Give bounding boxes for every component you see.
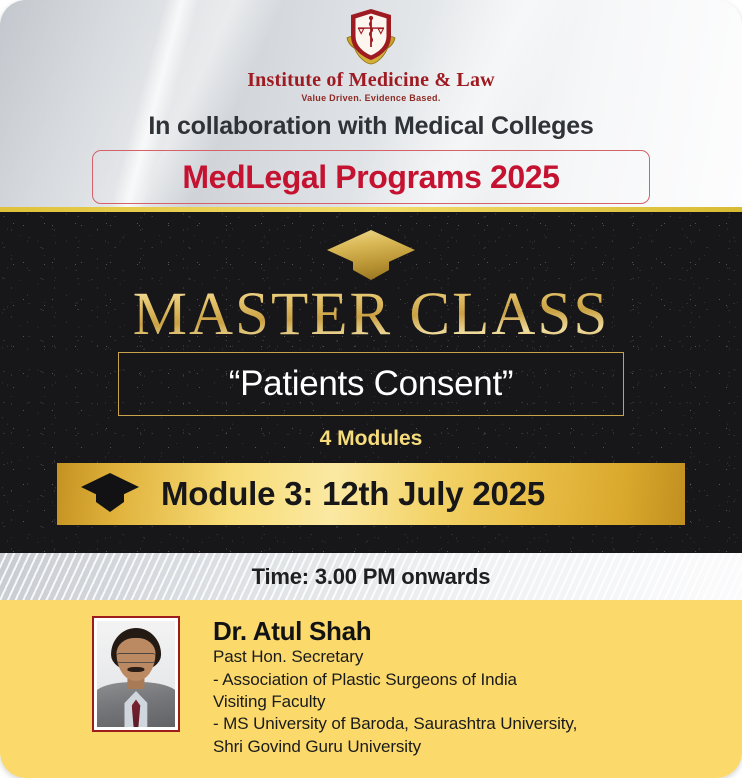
speaker-credential-line: Visiting Faculty [213, 691, 577, 713]
modules-count-label: 4 Modules [0, 427, 742, 451]
speaker-credential-line: - Association of Plastic Surgeons of Ind… [213, 669, 577, 691]
institute-logo-block: Institute of Medicine & Law Value Driven… [0, 0, 742, 103]
master-class-heading: MASTER CLASS [0, 284, 742, 346]
program-title-box: MedLegal Programs 2025 [92, 150, 650, 204]
speaker-credential-line: Shri Govind Guru University [213, 736, 577, 758]
speaker-credential-line: Past Hon. Secretary [213, 646, 577, 668]
program-title: MedLegal Programs 2025 [182, 159, 559, 196]
event-poster: Institute of Medicine & Law Value Driven… [0, 0, 742, 778]
time-strip: Time: 3.00 PM onwards [0, 553, 742, 600]
graduation-cap-icon [0, 228, 742, 280]
speaker-credential-line: - MS University of Baroda, Saurashtra Un… [213, 713, 577, 735]
speaker-photo [97, 621, 175, 727]
shield-crest-caduceus-scales-icon [0, 6, 742, 68]
institute-tagline: Value Driven. Evidence Based. [0, 93, 742, 103]
time-text: Time: 3.00 PM onwards [252, 564, 491, 590]
module-date-text: Module 3: 12th July 2025 [161, 475, 545, 513]
speaker-name: Dr. Atul Shah [213, 617, 577, 646]
institute-name: Institute of Medicine & Law [0, 69, 742, 92]
speaker-photo-frame [92, 616, 180, 732]
module-bar-wrapper: Module 3: 12th July 2025 [57, 463, 685, 525]
hero-section: MASTER CLASS “Patients Consent” 4 Module… [0, 212, 742, 553]
module-date-bar: Module 3: 12th July 2025 [57, 463, 685, 525]
topic-title: “Patients Consent” [229, 364, 513, 404]
topic-box: “Patients Consent” [118, 352, 624, 416]
poster-header: Institute of Medicine & Law Value Driven… [0, 0, 742, 212]
photo-glasses-shape [117, 653, 156, 663]
graduation-cap-icon [79, 472, 141, 517]
speaker-info: Dr. Atul Shah Past Hon. Secretary - Asso… [213, 616, 577, 758]
speaker-section: Dr. Atul Shah Past Hon. Secretary - Asso… [0, 600, 742, 778]
collaboration-line: In collaboration with Medical Colleges [0, 112, 742, 141]
